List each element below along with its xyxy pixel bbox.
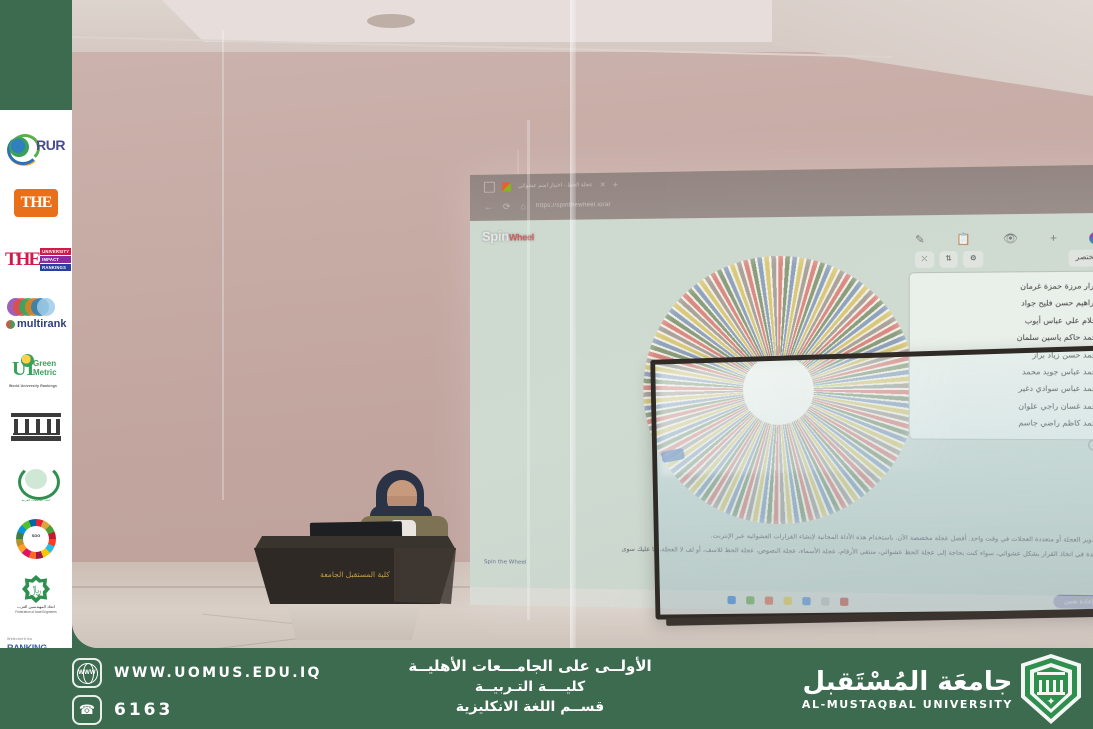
sidebar-item-institute[interactable] <box>5 400 67 454</box>
phone-glyph: ☎ <box>79 702 95 718</box>
brand-accent-text: Wheel <box>509 232 534 242</box>
sidebar-item-arab-universities[interactable]: اتحاد الجامعات العربية <box>5 456 67 510</box>
university-name-en: AL-MUSTAQBAL UNIVERSITY <box>802 698 1013 711</box>
university-wordmark: جامعَة المُسْتَقبل AL-MUSTAQBAL UNIVERSI… <box>802 667 1013 711</box>
shorten-button[interactable]: يختصر <box>1069 250 1093 267</box>
list-item[interactable]: إبراهيم حسن فليح جواد <box>918 295 1093 313</box>
webometrics-pre: Webometrics <box>7 637 32 641</box>
phone-icon: ☎ <box>72 695 102 725</box>
sort-button[interactable]: ⇅ <box>939 251 958 268</box>
glass-partition <box>570 0 576 648</box>
university-crest-icon: ✦ <box>1021 654 1081 724</box>
add-icon[interactable]: + <box>1050 233 1057 245</box>
back-icon[interactable]: ← <box>484 202 493 211</box>
tab-list-icon[interactable] <box>484 181 495 192</box>
ceiling-vent <box>367 14 415 28</box>
university-name-ar: جامعَة المُسْتَقبل <box>802 667 1013 697</box>
university-logo: جامعَة المُسْتَقبل AL-MUSTAQBAL UNIVERSI… <box>802 654 1081 724</box>
sidebar-item-multirank[interactable]: multirank <box>5 288 67 342</box>
multirank-label: multirank <box>17 318 67 330</box>
greenmetric-caption: World University Rankings <box>9 384 57 388</box>
podium: كلية المستقبل الجامعة <box>254 536 456 614</box>
ceiling-soffit <box>162 0 862 42</box>
wall-seam-left <box>222 30 224 500</box>
footer-contact: WWW WWW.UOMUS.EDU.IQ ☎ 6163 <box>72 658 322 729</box>
tagline-line-1: الأولــى على الجامـــعات الأهليــة <box>330 656 730 677</box>
footer-tagline: الأولــى على الجامـــعات الأهليــة كليــ… <box>330 656 730 717</box>
names-toolbar: ✎ 📋 👁 + <box>909 232 1093 250</box>
sidebar-item-the-impact[interactable]: THE UNIVERSITY IMPACT RANKINGS <box>5 232 67 286</box>
podium-inscription: كلية المستقبل الجامعة <box>272 570 438 579</box>
rur-label: RUR <box>36 137 65 153</box>
phone-number[interactable]: 6163 <box>114 700 173 720</box>
federation-ar-label: اتحاد المهندسين العرب <box>10 604 62 609</box>
whiteboard <box>650 344 1093 620</box>
the-impact-line1: UNIVERSITY <box>40 248 71 255</box>
new-tab-icon[interactable]: + <box>613 180 618 189</box>
brand-text: Spin <box>482 229 509 244</box>
www-icon-label: WWW <box>78 670 96 676</box>
reload-icon[interactable]: ⟳ <box>503 202 511 211</box>
sdg-wheel-icon: SDG <box>16 519 56 559</box>
footer-bar: WWW WWW.UOMUS.EDU.IQ ☎ 6163 الأولــى على… <box>0 648 1093 729</box>
browser-chrome: عجلة الحظ - اختيار اسم عشوائي ✕ + ← ⟳ ⌂ … <box>470 165 1093 221</box>
the-impact-label: THE <box>5 250 39 269</box>
list-item[interactable]: أحمد حاكم ياسين سلمان <box>918 329 1093 347</box>
sidebar-item-federation-arab-engineers[interactable]: ﷼ اتحاد المهندسين العرب Federation of Ar… <box>5 568 67 622</box>
browser-tab-strip: عجلة الحظ - اختيار اسم عشوائي ✕ + <box>484 177 618 195</box>
footer-website-line[interactable]: WWW WWW.UOMUS.EDU.IQ <box>72 658 322 688</box>
sidebar-item-rur[interactable]: RUR <box>5 120 67 174</box>
arab-universities-caption: اتحاد الجامعات العربية <box>10 498 62 502</box>
tagline-line-2: كليــــة التـربيــة <box>330 677 730 697</box>
sdg-label: SDG <box>16 533 56 538</box>
sidebar-item-ui-greenmetric[interactable]: UI Green Metric World University Ranking… <box>5 344 67 398</box>
the-label: THE <box>21 194 52 212</box>
settings-button[interactable]: ⚙ <box>963 251 983 268</box>
federation-en-label: Federation of Arab Engineers <box>10 610 62 614</box>
top-left-green-block <box>0 0 72 110</box>
podium-base <box>278 604 430 640</box>
tab-favicon-icon <box>502 182 511 191</box>
website-url[interactable]: WWW.UOMUS.EDU.IQ <box>114 665 322 681</box>
calligraphy-icon: ﷼ <box>29 584 41 597</box>
globe-icon: WWW <box>72 658 102 688</box>
ranking-logo-rail: RUR THE THE UNIVERSITY IMPACT RANKINGS <box>0 110 72 648</box>
greenmetric-line1: Green <box>33 359 56 368</box>
the-impact-line2: IMPACT <box>40 256 71 263</box>
list-item[interactable]: أحلام علي عباس أيوب <box>918 312 1093 330</box>
podium-top <box>254 536 456 550</box>
the-impact-logo-icon: THE UNIVERSITY IMPACT RANKINGS <box>5 244 67 274</box>
names-controls: ⤬ ⇅ ⚙ يختصر <box>909 247 1093 272</box>
federation-arab-engineers-logo-icon: ﷼ اتحاد المهندسين العرب Federation of Ar… <box>10 575 62 615</box>
close-tab-icon[interactable]: ✕ <box>600 181 606 189</box>
whiteboard-glare <box>659 361 953 475</box>
sidebar-item-sdg[interactable]: SDG <box>5 512 67 566</box>
lock-icon: ⌂ <box>520 202 525 211</box>
glass-partition-edge <box>527 120 530 620</box>
greenmetric-line2: Metric <box>33 368 57 377</box>
columns-icon <box>11 411 61 443</box>
arab-universities-logo-icon: اتحاد الجامعات العربية <box>10 464 62 502</box>
footer-phone-line[interactable]: ☎ 6163 <box>72 695 322 725</box>
shuffle-button[interactable]: ⤬ <box>915 251 934 268</box>
browser-address-bar[interactable]: ← ⟳ ⌂ https://spinthewheel.io/ar <box>484 197 611 215</box>
the-logo-icon: THE <box>14 189 58 217</box>
screenshot-root: عجلة الحظ - اختيار اسم عشوائي ✕ + ← ⟳ ⌂ … <box>0 0 1093 729</box>
color-wheel-icon[interactable] <box>1089 232 1093 245</box>
edit-icon[interactable]: ✎ <box>915 234 925 245</box>
list-item[interactable]: أبرار مرزة حمزة غرمان <box>918 278 1093 296</box>
crest-emblem-icon: ✦ <box>1045 696 1057 708</box>
clipboard-icon[interactable]: 📋 <box>956 234 971 246</box>
rur-logo-icon: RUR <box>7 134 65 160</box>
hide-icon[interactable]: 👁 <box>1003 233 1018 245</box>
event-photograph: عجلة الحظ - اختيار اسم عشوائي ✕ + ← ⟳ ⌂ … <box>72 0 1093 648</box>
multirank-logo-icon: multirank <box>5 298 67 332</box>
the-impact-line3: RANKINGS <box>40 264 71 271</box>
ui-greenmetric-logo-icon: UI Green Metric World University Ranking… <box>5 353 67 389</box>
tagline-line-3: قســم اللغة الانكليزية <box>330 697 730 717</box>
sidebar-item-the[interactable]: THE <box>5 176 67 230</box>
